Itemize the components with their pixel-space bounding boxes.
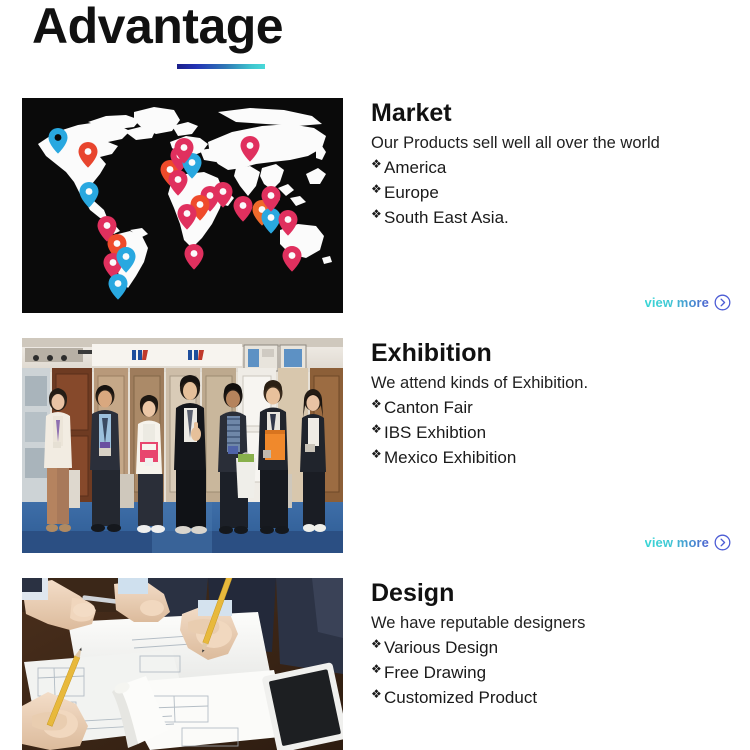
list-item-label: Free Drawing <box>384 663 486 682</box>
list-item: ❖America <box>371 156 731 181</box>
view-more-label: view more <box>645 295 710 310</box>
list-item: ❖Free Drawing <box>371 661 731 686</box>
view-more-link-market[interactable]: view more <box>645 294 732 311</box>
list-item-label: Europe <box>384 183 439 202</box>
list-item: ❖Canton Fair <box>371 396 731 421</box>
section-design: Design We have reputable designers ❖Vari… <box>0 578 750 750</box>
design-copy: Design We have reputable designers ❖Vari… <box>371 578 731 711</box>
diamond-bullet-icon: ❖ <box>371 661 382 679</box>
designers-drawing-blueprints-photo <box>22 578 343 750</box>
section-subtitle-market: Our Products sell well all over the worl… <box>371 132 731 154</box>
diamond-bullet-icon: ❖ <box>371 156 382 174</box>
market-copy: Market Our Products sell well all over t… <box>371 98 731 231</box>
view-more-label: view more <box>645 535 710 550</box>
chevron-right-circle-icon[interactable] <box>714 534 731 551</box>
list-item: ❖Europe <box>371 181 731 206</box>
diamond-bullet-icon: ❖ <box>371 206 382 224</box>
diamond-bullet-icon: ❖ <box>371 396 382 414</box>
diamond-bullet-icon: ❖ <box>371 686 382 704</box>
chevron-right-circle-icon[interactable] <box>714 294 731 311</box>
page-title: Advantage <box>32 0 283 56</box>
list-item-label: South East Asia. <box>384 208 509 227</box>
list-item-label: America <box>384 158 446 177</box>
list-item-label: Various Design <box>384 638 498 657</box>
section-heading-exhibition: Exhibition <box>371 338 731 368</box>
list-item-label: Canton Fair <box>384 398 473 417</box>
world-map-icon <box>22 98 343 313</box>
section-subtitle-design: We have reputable designers <box>371 612 731 634</box>
list-item-label: Customized Product <box>384 688 537 707</box>
exhibition-team-booth-photo <box>22 338 343 553</box>
view-more-link-exhibition[interactable]: view more <box>645 534 732 551</box>
exhibition-photo-illustration <box>22 338 343 553</box>
diamond-bullet-icon: ❖ <box>371 636 382 654</box>
design-bullet-list: ❖Various Design ❖Free Drawing ❖Customize… <box>371 636 731 711</box>
world-map-with-location-pins <box>22 98 343 313</box>
list-item: ❖Mexico Exhibition <box>371 446 731 471</box>
list-item: ❖IBS Exhibtion <box>371 421 731 446</box>
market-bullet-list: ❖America ❖Europe ❖South East Asia. <box>371 156 731 231</box>
list-item: ❖Customized Product <box>371 686 731 711</box>
diamond-bullet-icon: ❖ <box>371 421 382 439</box>
title-underline-accent <box>177 64 265 69</box>
diamond-bullet-icon: ❖ <box>371 181 382 199</box>
advantage-page: Advantage <box>0 0 750 750</box>
list-item: ❖Various Design <box>371 636 731 661</box>
design-photo-illustration <box>22 578 343 750</box>
section-subtitle-exhibition: We attend kinds of Exhibition. <box>371 372 731 394</box>
exhibition-copy: Exhibition We attend kinds of Exhibition… <box>371 338 731 471</box>
list-item-label: IBS Exhibtion <box>384 423 486 442</box>
section-heading-design: Design <box>371 578 731 608</box>
exhibition-bullet-list: ❖Canton Fair ❖IBS Exhibtion ❖Mexico Exhi… <box>371 396 731 471</box>
section-market: Market Our Products sell well all over t… <box>0 98 750 326</box>
list-item-label: Mexico Exhibition <box>384 448 516 467</box>
list-item: ❖South East Asia. <box>371 206 731 231</box>
diamond-bullet-icon: ❖ <box>371 446 382 464</box>
section-exhibition: Exhibition We attend kinds of Exhibition… <box>0 338 750 566</box>
section-heading-market: Market <box>371 98 731 128</box>
